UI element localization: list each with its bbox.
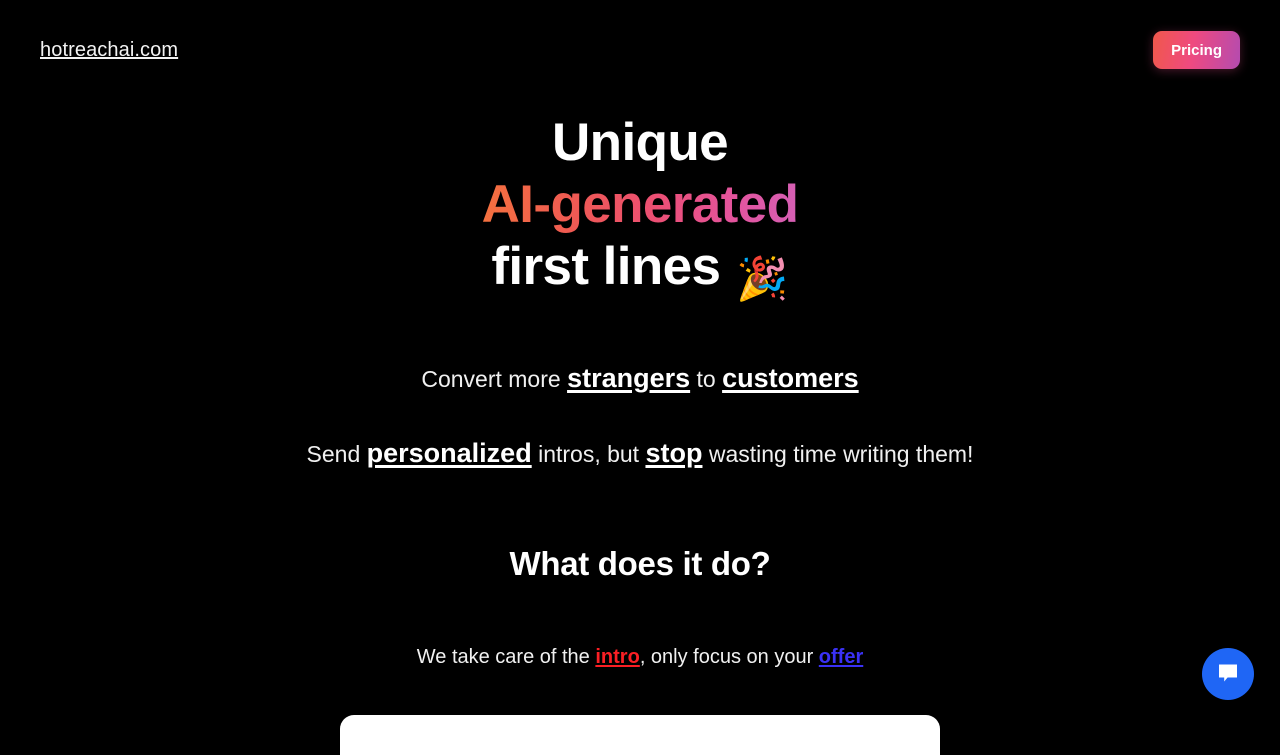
content-card-panel [340,715,940,755]
subheading-1-strong-customers: customers [722,363,859,393]
subheading-2-text-a: Send [307,441,367,467]
subheading-1-strong-strangers: strangers [567,363,690,393]
subheading-1-text-a: Convert more [421,366,567,392]
pricing-button[interactable]: Pricing [1153,31,1240,69]
subheading-line-1: Convert more strangers to customers [0,363,1280,394]
subheading-2-strong-personalized: personalized [367,438,532,468]
top-navigation-bar: hotreachai.com Pricing [0,0,1280,100]
section-copy-text-a: We take care of the [417,646,596,668]
section-copy-text-b: , only focus on your [640,646,819,668]
hero-line-3-wrapper: first lines🎉 [0,236,1280,304]
keyword-intro: intro [595,646,639,668]
hero-line-3: first lines [491,237,720,296]
section-title-what-does-it-do: What does it do? [0,545,1280,583]
hero-heading: Unique AI-generated first lines🎉 [0,112,1280,304]
chat-bubble-icon [1215,660,1241,689]
section-description: We take care of the intro, only focus on… [0,644,1280,670]
subheading-2-text-b: intros, but [532,441,646,467]
chat-widget-button[interactable] [1202,648,1254,700]
subheading-2-text-c: wasting time writing them! [702,441,973,467]
hero-line-1: Unique [0,112,1280,174]
subheading-2-strong-stop: stop [645,438,702,468]
hero-line-2: AI-generated [482,174,799,236]
keyword-offer: offer [819,646,863,668]
subheading-1-text-b: to [690,366,722,392]
hero-line-2-wrapper: AI-generated [0,174,1280,236]
brand-logo-link[interactable]: hotreachai.com [40,40,178,60]
subheading-line-2: Send personalized intros, but stop wasti… [0,438,1280,469]
party-popper-icon: 🎉 [736,255,788,304]
